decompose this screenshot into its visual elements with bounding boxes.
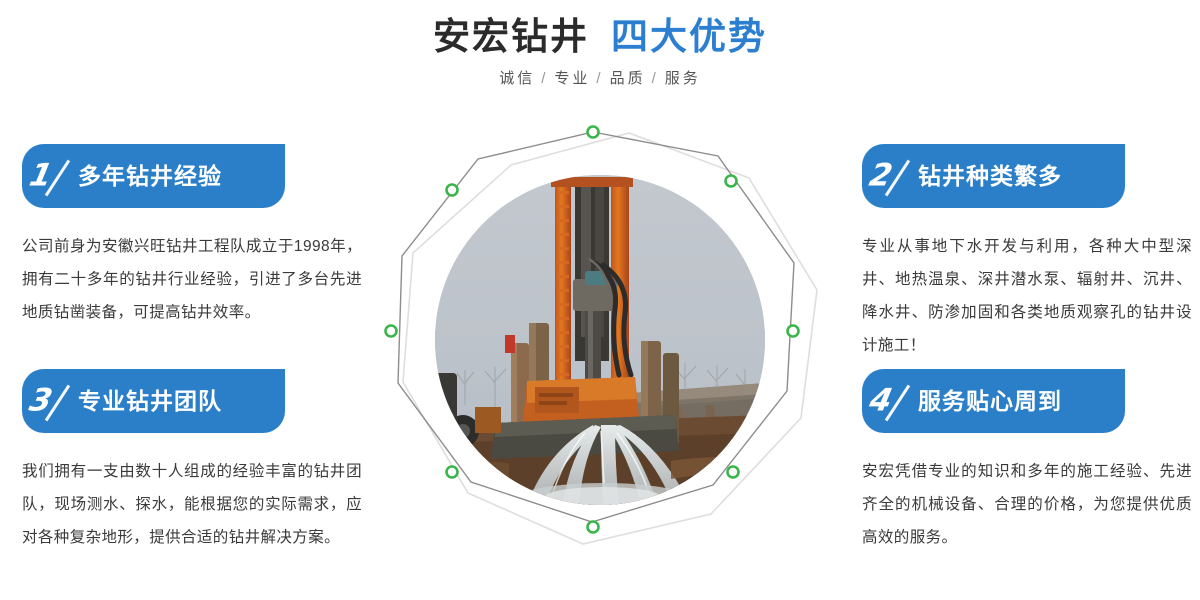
feature-card-2-badge: 2 <box>862 144 918 208</box>
feature-card-3-title: 专业钻井团队 <box>78 388 222 414</box>
page-header: 安宏钻井四大优势 诚信/专业/品质/服务 <box>0 0 1200 110</box>
polygon-node-left <box>386 326 397 337</box>
feature-card-1[interactable]: 1 多年钻井经验 公司前身为安徽兴旺钻井工程队成立于1998年，拥有二十多年的钻… <box>22 144 362 329</box>
feature-card-3-badge: 3 <box>22 369 78 433</box>
feature-card-4-title: 服务贴心周到 <box>918 388 1062 414</box>
feature-card-3-body: 我们拥有一支由数十人组成的经验丰富的钻井团队，现场测水、探水，能根据您的实际需求… <box>22 455 362 554</box>
page-title-main: 安宏钻井 <box>433 16 589 57</box>
center-graphic <box>370 110 830 570</box>
polygon-node-top <box>588 127 599 138</box>
subtitle-separator-1: / <box>541 70 548 87</box>
polygon-node-top-left <box>447 185 458 196</box>
feature-card-1-header: 1 多年钻井经验 <box>22 144 285 208</box>
feature-card-1-title: 多年钻井经验 <box>78 163 222 189</box>
drilling-rig-photo <box>435 175 765 505</box>
polygon-node-bottom <box>588 522 599 533</box>
polygon-node-bottom-right <box>728 467 739 478</box>
subtitle-item-2: 专业 <box>554 70 590 87</box>
page-subtitle: 诚信/专业/品质/服务 <box>0 60 1200 89</box>
feature-card-1-badge: 1 <box>22 144 78 208</box>
feature-card-2-title: 钻井种类繁多 <box>918 163 1062 189</box>
polygon-node-bottom-left <box>447 467 458 478</box>
feature-card-3-header: 3 专业钻井团队 <box>22 369 285 433</box>
feature-card-2-body: 专业从事地下水开发与利用，各种大中型深井、地热温泉、深井潜水泵、辐射井、沉井、降… <box>862 230 1192 362</box>
subtitle-item-4: 服务 <box>665 70 701 87</box>
polygon-node-right <box>788 326 799 337</box>
subtitle-item-1: 诚信 <box>499 70 535 87</box>
feature-card-4-body: 安宏凭借专业的知识和多年的施工经验、先进齐全的机械设备、合理的价格，为您提供优质… <box>862 455 1192 554</box>
feature-card-4-header: 4 服务贴心周到 <box>862 369 1125 433</box>
subtitle-separator-3: / <box>652 70 659 87</box>
polygon-node-top-right <box>726 176 737 187</box>
subtitle-item-3: 品质 <box>610 70 646 87</box>
feature-card-2-header: 2 钻井种类繁多 <box>862 144 1125 208</box>
page-title: 安宏钻井四大优势 <box>0 0 1200 60</box>
feature-card-1-body: 公司前身为安徽兴旺钻井工程队成立于1998年，拥有二十多年的钻井行业经验，引进了… <box>22 230 362 329</box>
feature-card-4-badge: 4 <box>862 369 918 433</box>
drilling-rig-illustration-icon <box>435 175 765 505</box>
feature-card-2[interactable]: 2 钻井种类繁多 专业从事地下水开发与利用，各种大中型深井、地热温泉、深井潜水泵… <box>862 144 1200 362</box>
feature-card-3[interactable]: 3 专业钻井团队 我们拥有一支由数十人组成的经验丰富的钻井团队，现场测水、探水，… <box>22 369 362 554</box>
feature-card-4[interactable]: 4 服务贴心周到 安宏凭借专业的知识和多年的施工经验、先进齐全的机械设备、合理的… <box>862 369 1200 554</box>
subtitle-separator-2: / <box>596 70 603 87</box>
page-title-accent: 四大优势 <box>611 16 767 57</box>
